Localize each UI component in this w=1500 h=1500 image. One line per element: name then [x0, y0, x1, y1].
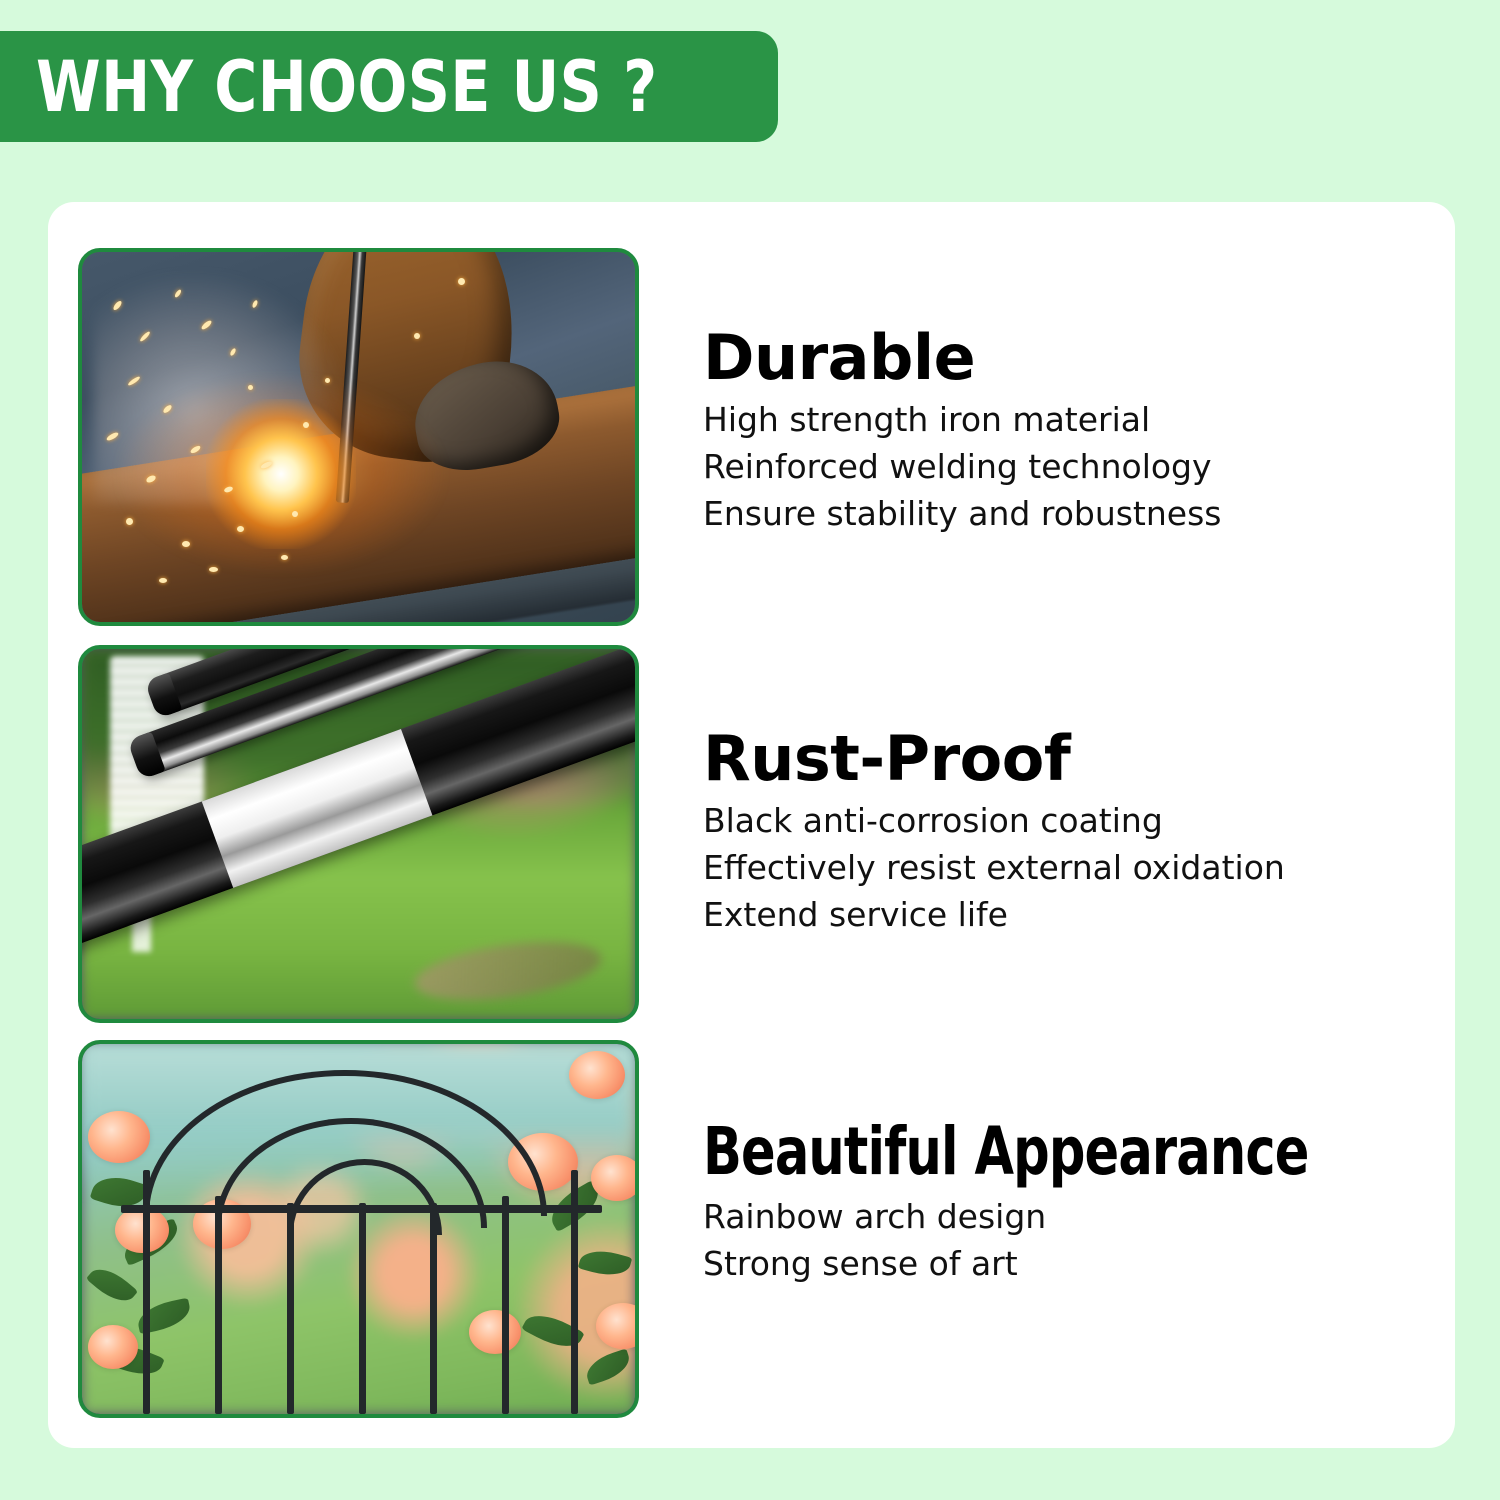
- content-card: Durable High strength iron material Rein…: [48, 202, 1455, 1448]
- feature-row-durable: Durable High strength iron material Rein…: [78, 248, 1438, 618]
- spark-particles: [82, 252, 635, 622]
- feature-row-rust-proof: Rust-Proof Black anti-corrosion coating …: [78, 645, 1438, 1015]
- feature-line: Ensure stability and robustness: [703, 490, 1438, 537]
- feature-text-durable: Durable High strength iron material Rein…: [703, 248, 1438, 537]
- banner-title: WHY CHOOSE US ?: [36, 52, 658, 122]
- feature-text-beautiful-appearance: Beautiful Appearance Rainbow arch design…: [703, 1040, 1438, 1287]
- black-coated-rods-photo: [78, 645, 639, 1023]
- feature-heading: Durable: [703, 326, 1438, 390]
- feature-line: Black anti-corrosion coating: [703, 797, 1438, 844]
- feature-line: Rainbow arch design: [703, 1193, 1438, 1240]
- feature-bullet-list: Rainbow arch design Strong sense of art: [703, 1193, 1438, 1287]
- feature-bullet-list: High strength iron material Reinforced w…: [703, 396, 1438, 537]
- welding-sparks-photo: [78, 248, 639, 626]
- feature-row-beautiful-appearance: Beautiful Appearance Rainbow arch design…: [78, 1040, 1438, 1410]
- feature-bullet-list: Black anti-corrosion coating Effectively…: [703, 797, 1438, 938]
- infographic-page: WHY CHOOSE US ?: [0, 0, 1500, 1500]
- feature-line: High strength iron material: [703, 396, 1438, 443]
- arch-garden-fence-photo: [78, 1040, 639, 1418]
- feature-heading: Rust-Proof: [703, 727, 1438, 791]
- feature-line: Effectively resist external oxidation: [703, 844, 1438, 891]
- arch-fence-graphic: [82, 1044, 635, 1414]
- feature-line: Strong sense of art: [703, 1240, 1438, 1287]
- feature-line: Extend service life: [703, 891, 1438, 938]
- why-choose-us-banner: WHY CHOOSE US ?: [0, 31, 778, 142]
- feature-heading: Beautiful Appearance: [703, 1118, 1335, 1187]
- feature-text-rust-proof: Rust-Proof Black anti-corrosion coating …: [703, 645, 1438, 938]
- feature-line: Reinforced welding technology: [703, 443, 1438, 490]
